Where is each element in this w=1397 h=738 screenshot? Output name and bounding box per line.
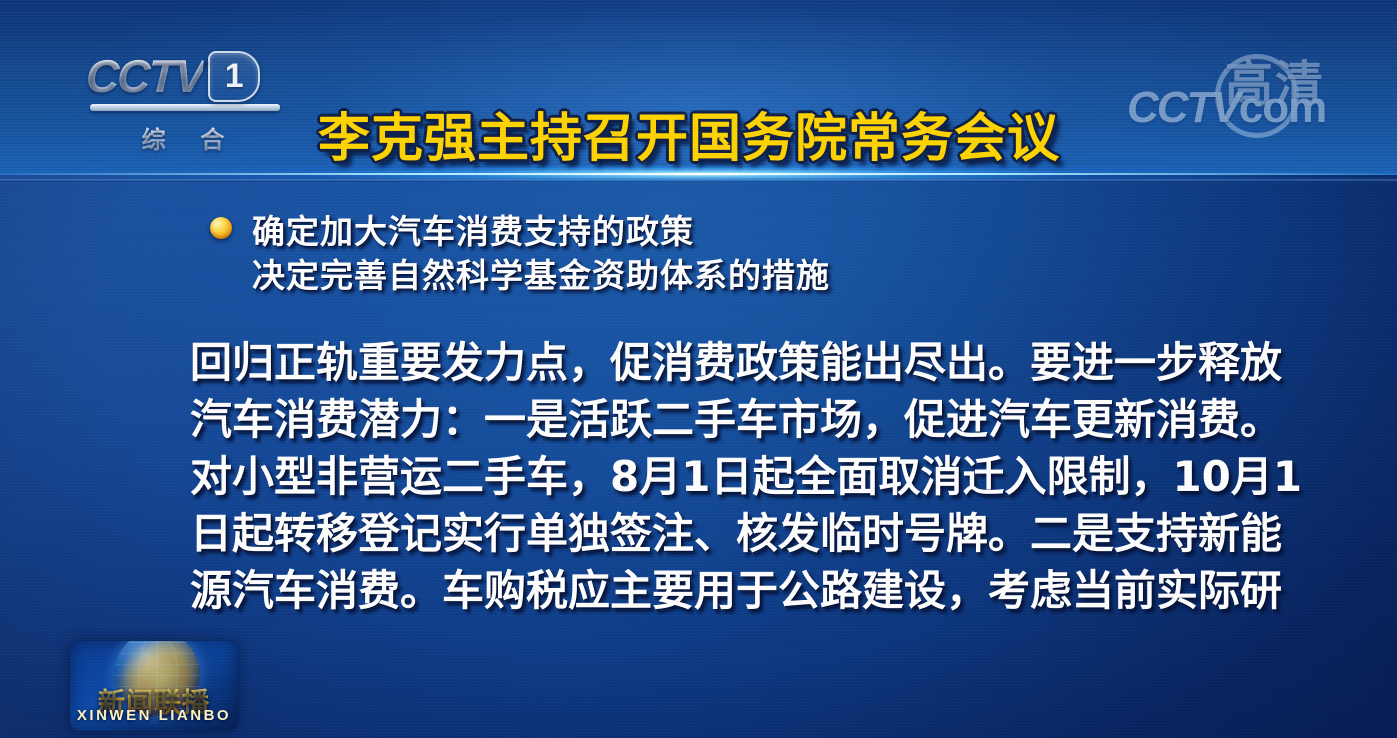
gold-dot-icon bbox=[210, 217, 232, 239]
channel-name-label: 综 合 bbox=[86, 120, 280, 155]
subheadline-text: 确定加大汽车消费支持的政策 bbox=[252, 205, 694, 253]
body-paragraph: 回归正轨重要发力点，促消费政策能出尽出。要进一步释放 汽车消费潜力：一是活跃二手… bbox=[190, 334, 1270, 619]
body-line: 源汽车消费。车购税应主要用于公路建设，考虑当前实际研 bbox=[190, 562, 1270, 619]
body-line: 对小型非营运二手车，8月1日起全面取消迁入限制，10月1 bbox=[190, 448, 1270, 505]
channel-logo-underbar bbox=[90, 104, 280, 111]
headline-title: 李克强主持召开国务院常务会议 bbox=[318, 96, 1060, 171]
watermark-site-main: CCTV bbox=[1127, 83, 1239, 132]
subheadline-list: 确定加大汽车消费支持的政策 决定完善自然科学基金资助体系的措施 bbox=[210, 205, 1210, 293]
site-watermark: 高清 CCTVcom bbox=[1127, 42, 1377, 147]
header-divider-underline bbox=[0, 179, 1397, 182]
channel-number-label: 1 bbox=[225, 59, 244, 93]
cctv-wordmark: CCTV bbox=[85, 53, 204, 99]
subheadline-item: 确定加大汽车消费支持的政策 bbox=[210, 205, 1210, 249]
header-divider-core bbox=[0, 173, 1397, 176]
broadcast-frame: CCTV 1 综 合 高清 CCTVcom 李克强主持召开国务院常务会议 确定加… bbox=[0, 0, 1397, 738]
subheadline-item: 决定完善自然科学基金资助体系的措施 bbox=[210, 249, 1210, 293]
program-name-en: XINWEN LIANBO bbox=[70, 707, 238, 724]
body-line: 汽车消费潜力：一是活跃二手车市场，促进汽车更新消费。 bbox=[190, 391, 1270, 448]
watermark-site-suffix: com bbox=[1239, 83, 1326, 132]
program-logo: 新闻联播 XINWEN LIANBO bbox=[70, 641, 238, 731]
watermark-site-label: CCTVcom bbox=[1127, 83, 1326, 133]
channel-logo-row: CCTV 1 bbox=[86, 50, 296, 102]
body-line: 回归正轨重要发力点，促消费政策能出尽出。要进一步释放 bbox=[190, 334, 1270, 391]
channel-number-badge: 1 bbox=[208, 51, 260, 102]
body-line: 日起转移登记实行单独签注、核发临时号牌。二是支持新能 bbox=[190, 505, 1270, 562]
subheadline-text: 决定完善自然科学基金资助体系的措施 bbox=[252, 249, 830, 297]
channel-logo: CCTV 1 综 合 bbox=[86, 50, 296, 155]
